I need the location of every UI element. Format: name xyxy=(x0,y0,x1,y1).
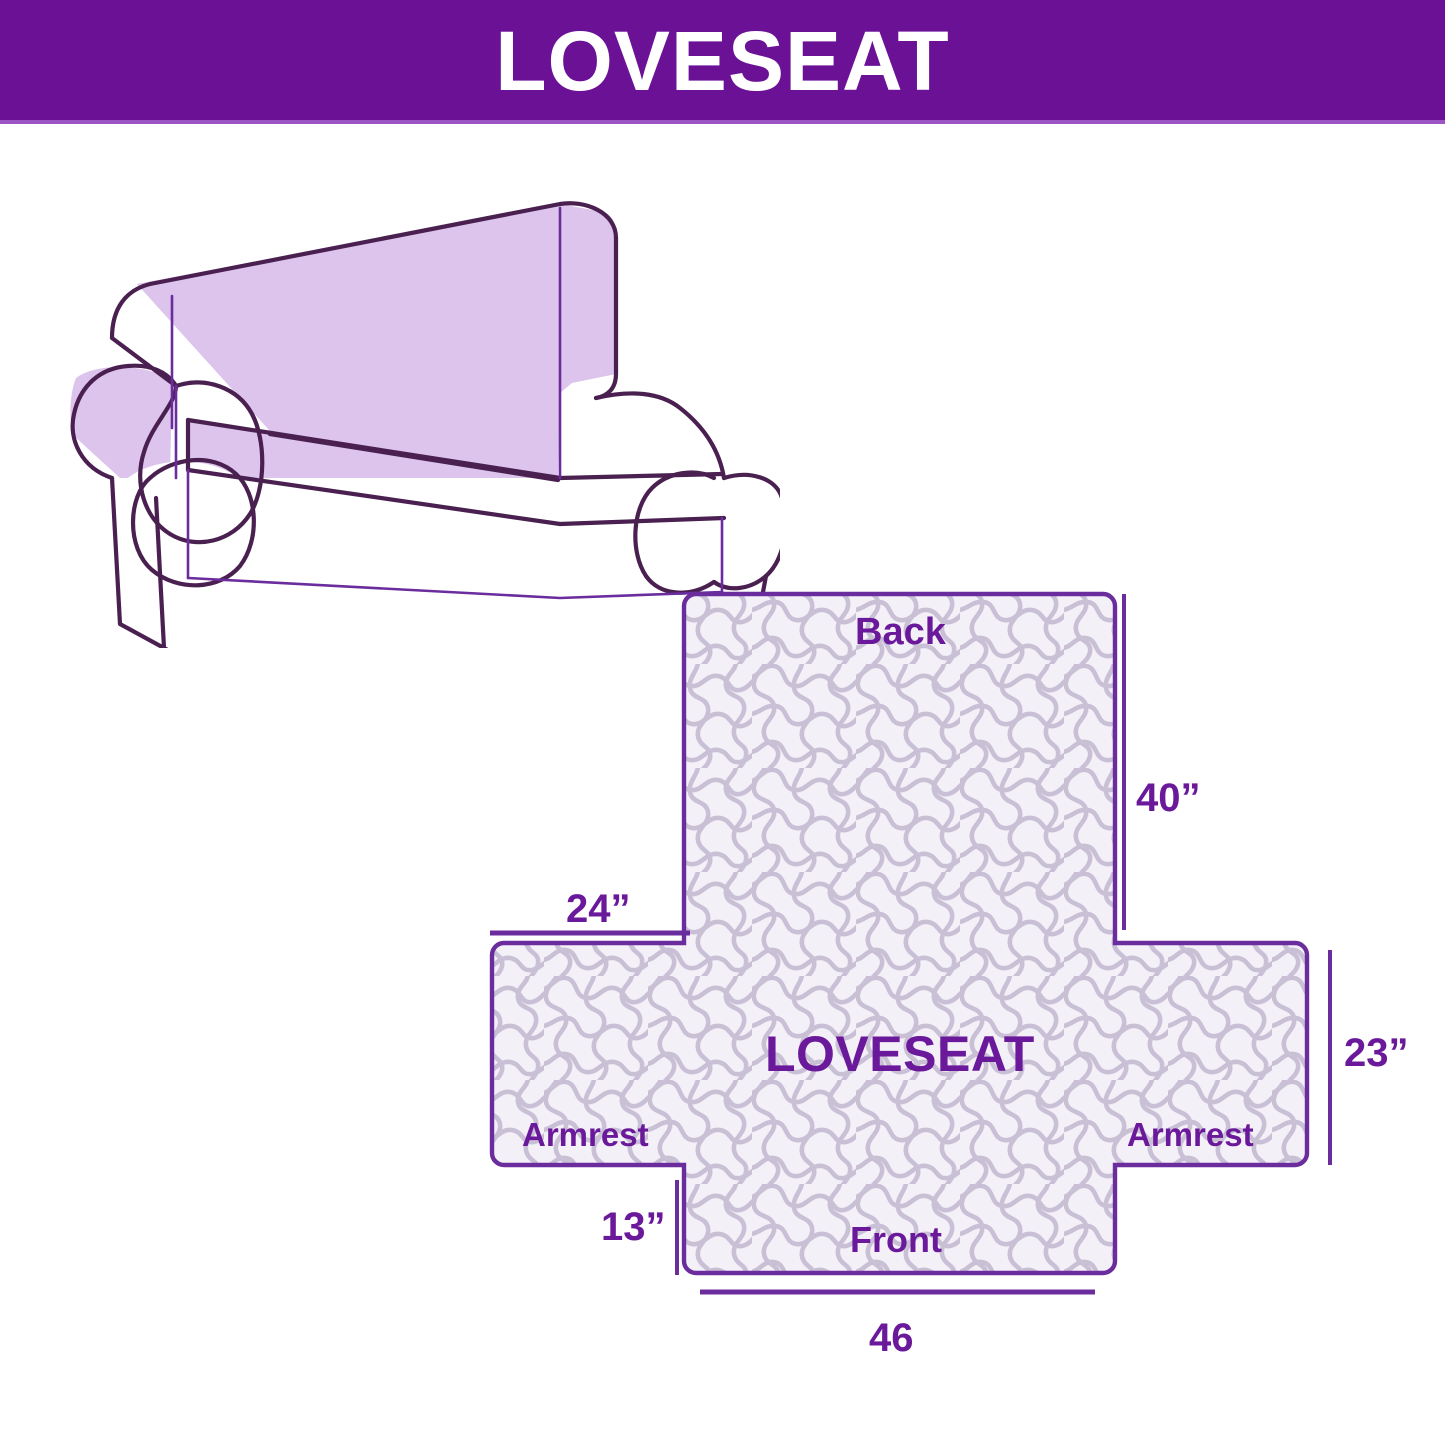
dimension-label-armrest-width: 24” xyxy=(566,889,631,929)
panel-label-armrest-right: Armrest xyxy=(1127,1118,1254,1151)
dimension-label-overall-width: 46 xyxy=(869,1318,914,1358)
dimension-label-front-height: 13” xyxy=(601,1207,666,1247)
page-title: LOVESEAT xyxy=(495,19,950,103)
dimension-label-seat-depth: 23” xyxy=(1344,1033,1409,1073)
panel-label-loveseat: LOVESEAT xyxy=(765,1029,1035,1079)
header-banner: LOVESEAT xyxy=(0,0,1445,122)
panel-label-back: Back xyxy=(855,613,946,651)
banner-underline-divider xyxy=(0,120,1445,124)
dimension-label-back-height: 40” xyxy=(1136,778,1201,818)
panel-label-armrest-left: Armrest xyxy=(522,1118,649,1151)
panel-label-front: Front xyxy=(850,1222,942,1258)
